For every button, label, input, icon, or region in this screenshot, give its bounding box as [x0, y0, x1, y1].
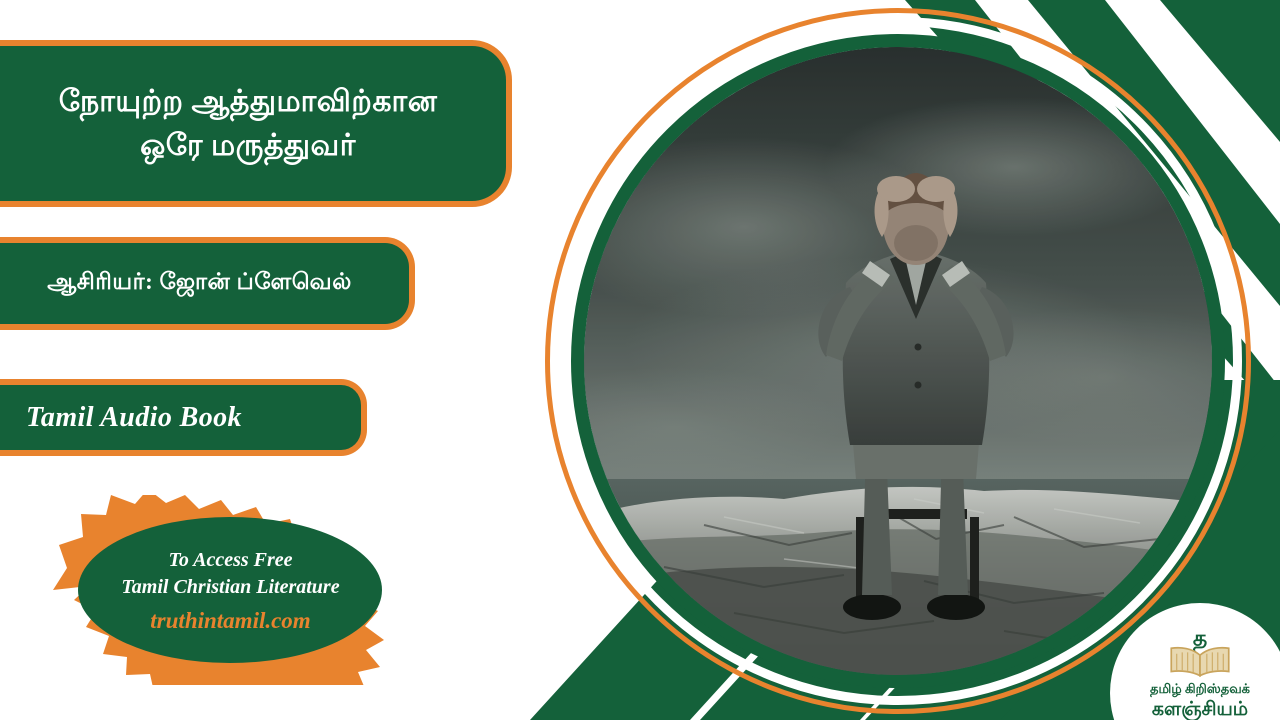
open-book-icon: த [1165, 625, 1235, 677]
book-title-line-2: ஒரே மருத்துவர் [140, 124, 356, 168]
website-badge[interactable]: To Access Free Tamil Christian Literatur… [53, 495, 408, 685]
poster-canvas: நோயுற்ற ஆத்துமாவிற்கான ஒரே மருத்துவர் ஆச… [0, 0, 1280, 720]
brand-logo[interactable]: த தமிழ் கிறிஸ்தவக் களஞ்சியம் [1110, 603, 1280, 720]
website-badge-text: To Access Free Tamil Christian Literatur… [53, 495, 408, 685]
author-label: ஆசிரியர்: ஜோன் ப்ளேவெல் [47, 269, 352, 298]
book-title-line-1: நோயுற்ற ஆத்துமாவிற்கான [59, 80, 438, 124]
website-url[interactable]: truthintamil.com [150, 608, 310, 634]
badge-line-2: Tamil Christian Literature [121, 574, 339, 601]
brand-name-line-1: தமிழ் கிறிஸ்தவக் [1150, 681, 1250, 698]
format-banner: Tamil Audio Book [0, 379, 367, 456]
book-title-banner: நோயுற்ற ஆத்துமாவிற்கான ஒரே மருத்துவர் [0, 40, 512, 207]
format-label: Tamil Audio Book [26, 402, 242, 434]
svg-text:த: த [1193, 626, 1207, 654]
brand-logo-circle: த தமிழ் கிறிஸ்தவக் களஞ்சியம் [1110, 603, 1280, 720]
badge-line-1: To Access Free [168, 547, 292, 574]
author-banner: ஆசிரியர்: ஜோன் ப்ளேவெல் [0, 237, 415, 330]
brand-name-line-2: களஞ்சியம் [1152, 699, 1248, 720]
